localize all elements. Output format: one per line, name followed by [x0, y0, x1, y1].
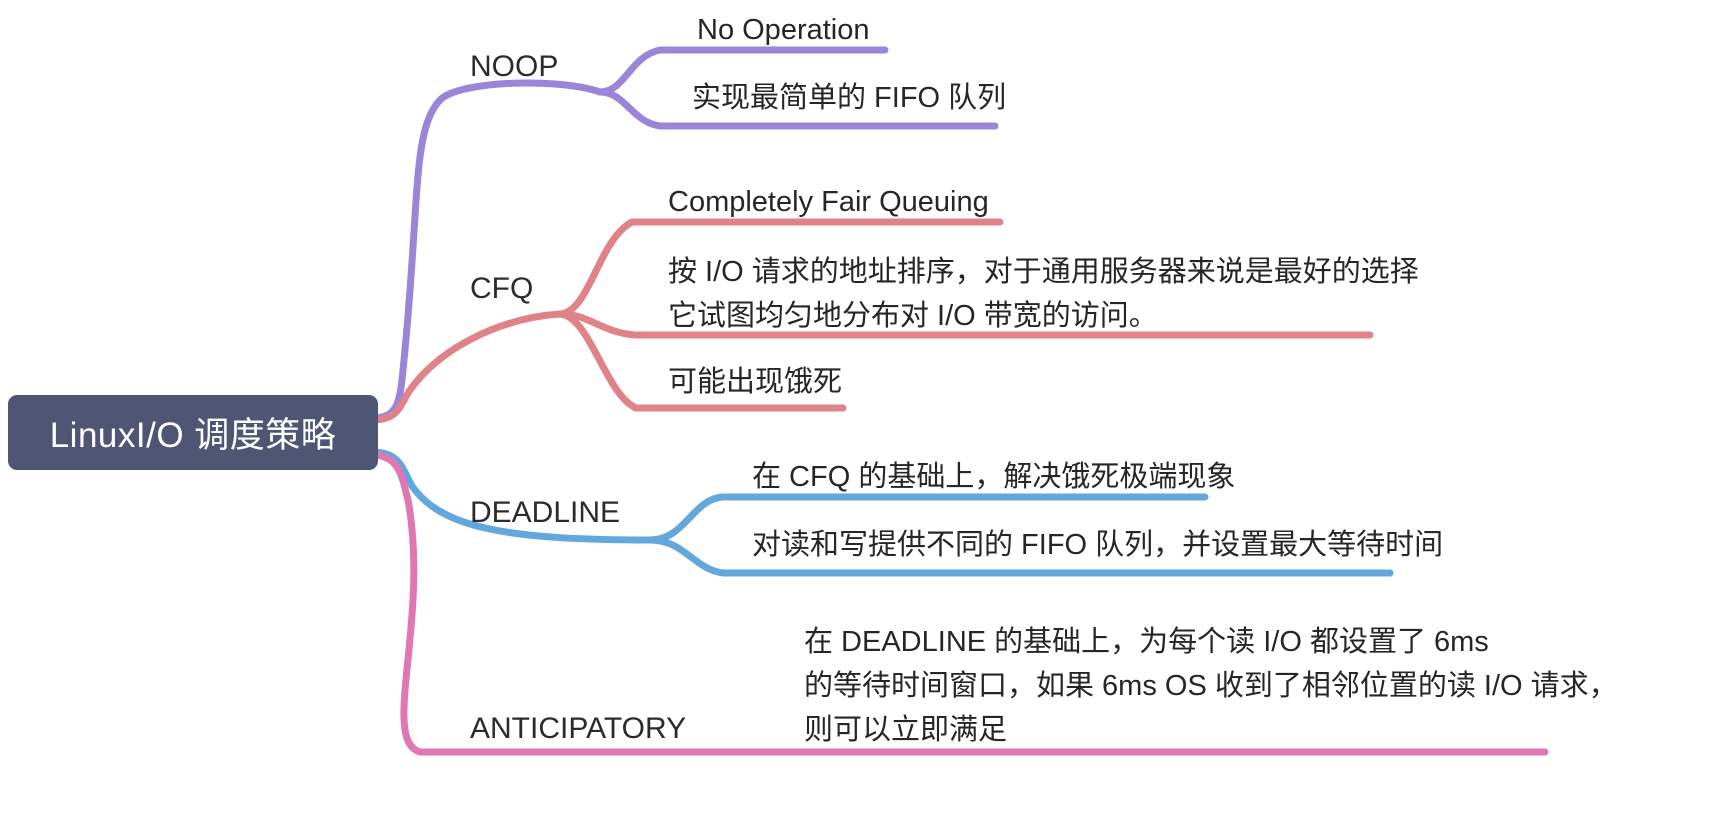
branch-label-cfq[interactable]: CFQ [470, 272, 533, 306]
leaf-line: 在 DEADLINE 的基础上，为每个读 I/O 都设置了 6ms [804, 620, 1618, 664]
leaf-line: 在 CFQ 的基础上，解决饿死极端现象 [752, 455, 1235, 499]
leaf-deadline-basis[interactable]: 在 CFQ 的基础上，解决饿死极端现象 [752, 455, 1235, 499]
leaf-line: Completely Fair Queuing [668, 180, 989, 224]
leaf-noop-full-name[interactable]: No Operation [697, 8, 870, 52]
branch-label-noop[interactable]: NOOP [470, 50, 558, 84]
leaf-line: 则可以立即满足 [804, 708, 1618, 752]
branch-label-deadline[interactable]: DEADLINE [470, 496, 620, 530]
root-node[interactable]: LinuxI/O 调度策略 [8, 395, 378, 470]
branch-line-anticipatory-trunk [372, 455, 445, 752]
leaf-line: No Operation [697, 8, 870, 52]
branch-label-anticipatory[interactable]: ANTICIPATORY [470, 712, 686, 746]
leaf-line: 它试图均匀地分布对 I/O 带宽的访问。 [668, 294, 1419, 338]
leaf-line: 实现最简单的 FIFO 队列 [692, 76, 1006, 120]
leaf-deadline-queues[interactable]: 对读和写提供不同的 FIFO 队列，并设置最大等待时间 [752, 523, 1443, 567]
leaf-line: 的等待时间窗口，如果 6ms OS 收到了相邻位置的读 I/O 请求， [804, 664, 1618, 708]
leaf-cfq-drawback[interactable]: 可能出现饿死 [668, 360, 842, 404]
leaf-line: 按 I/O 请求的地址排序，对于通用服务器来说是最好的选择 [668, 250, 1419, 294]
leaf-cfq-desc[interactable]: 按 I/O 请求的地址排序，对于通用服务器来说是最好的选择 它试图均匀地分布对 … [668, 250, 1419, 338]
root-node-label: LinuxI/O 调度策略 [50, 407, 337, 458]
leaf-noop-desc[interactable]: 实现最简单的 FIFO 队列 [692, 76, 1006, 120]
leaf-anticipatory-desc[interactable]: 在 DEADLINE 的基础上，为每个读 I/O 都设置了 6ms 的等待时间窗… [804, 620, 1618, 752]
leaf-line: 可能出现饿死 [668, 360, 842, 404]
mindmap-canvas: LinuxI/O 调度策略 NOOP No Operation 实现最简单的 F… [0, 0, 1716, 830]
leaf-line: 对读和写提供不同的 FIFO 队列，并设置最大等待时间 [752, 523, 1443, 567]
branch-line-noop-trunk [372, 83, 600, 418]
leaf-cfq-full-name[interactable]: Completely Fair Queuing [668, 180, 989, 224]
